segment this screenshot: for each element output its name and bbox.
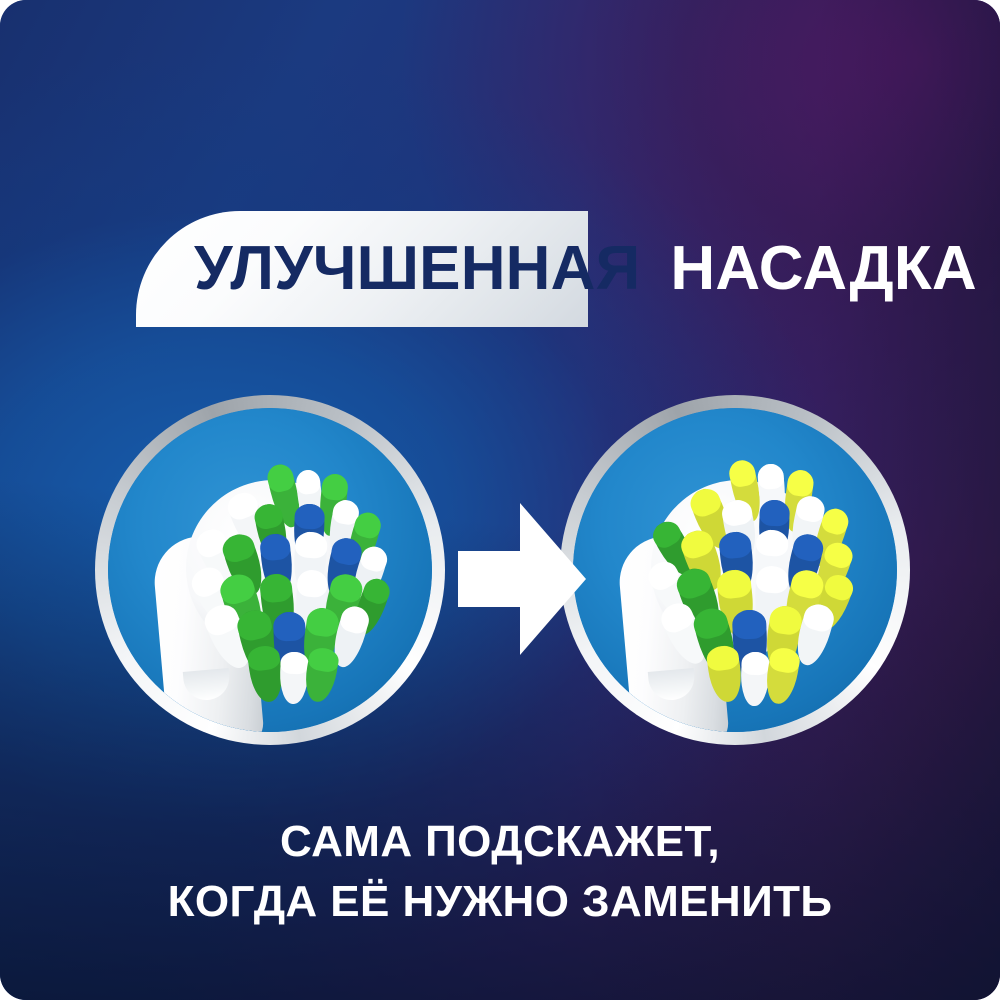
poster-canvas: УЛУЧШЕННАЯ НАСАДКА [0,0,1000,1000]
lens-face-before [108,408,432,732]
brush-lens-before [95,395,445,745]
arrow-right-icon [458,503,586,655]
headline-highlight-word: УЛУЧШЕННАЯ [194,238,640,300]
tagline-line-2: КОГДА ЕЁ НУЖНО ЗАМЕНИТЬ [0,872,1000,932]
lens-face-after [573,408,897,732]
tagline-line-1: САМА ПОДСКАЖЕТ, [0,812,1000,872]
headline-text: УЛУЧШЕННАЯ НАСАДКА [0,211,1000,327]
bristle-cluster-new [108,408,432,732]
brush-lens-after [560,395,910,745]
bristle-tuft [279,652,309,705]
toothbrush-head-new [108,408,432,732]
toothbrush-head-worn [573,408,897,732]
bristle-cluster-worn [573,408,897,732]
tagline: САМА ПОДСКАЖЕТ, КОГДА ЕЁ НУЖНО ЗАМЕНИТЬ [0,812,1000,932]
bristle-tuft [740,652,770,707]
headline-banner: УЛУЧШЕННАЯ НАСАДКА [0,211,1000,327]
headline-plain-word: НАСАДКА [670,238,977,300]
